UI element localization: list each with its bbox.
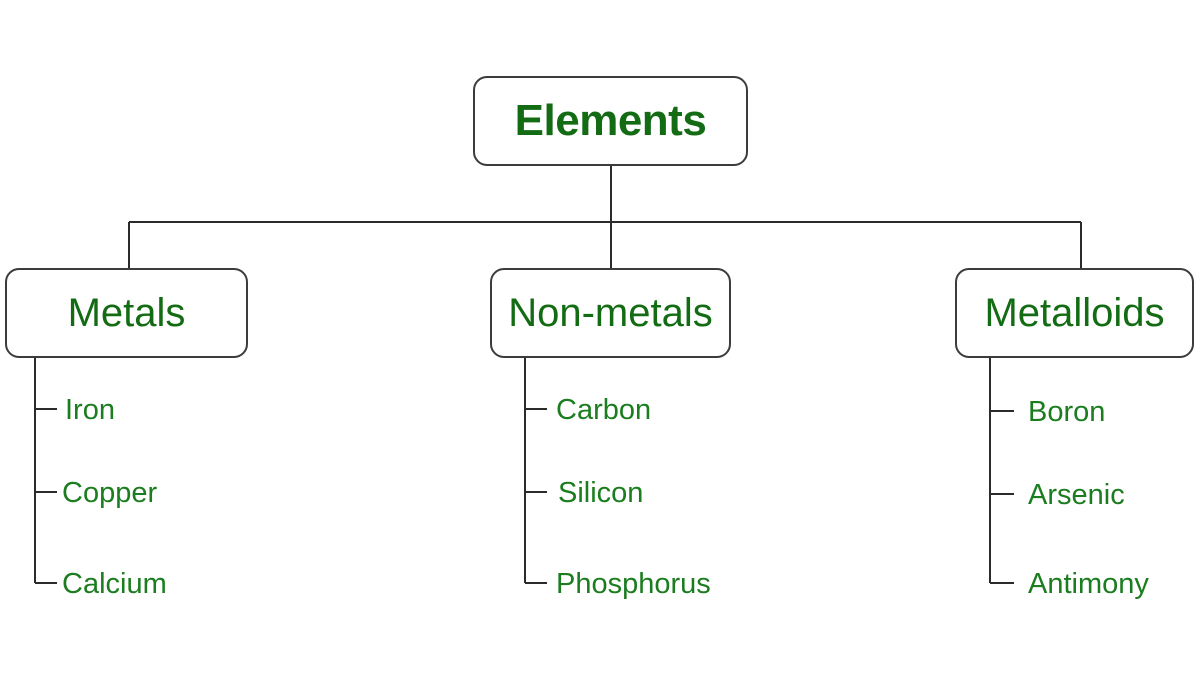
node-root-elements[interactable]: Elements	[473, 76, 748, 166]
leaf-metals-iron[interactable]: Iron	[65, 396, 115, 425]
leaf-metalloids-antimony[interactable]: Antimony	[1028, 570, 1149, 599]
leaf-metals-calcium[interactable]: Calcium	[62, 570, 167, 599]
node-category-metalloids[interactable]: Metalloids	[955, 268, 1194, 358]
node-root-label: Elements	[515, 99, 707, 143]
leaf-nonmetals-phosphorus[interactable]: Phosphorus	[556, 570, 711, 599]
node-category-metals[interactable]: Metals	[5, 268, 248, 358]
node-category-nonmetals-label: Non-metals	[508, 293, 713, 333]
leaf-metals-copper[interactable]: Copper	[62, 479, 157, 508]
node-category-metals-label: Metals	[68, 293, 186, 333]
elements-tree-diagram: Elements Metals Non-metals Metalloids Ir…	[0, 0, 1200, 675]
node-category-metalloids-label: Metalloids	[984, 293, 1164, 333]
node-category-nonmetals[interactable]: Non-metals	[490, 268, 731, 358]
leaf-metalloids-arsenic[interactable]: Arsenic	[1028, 481, 1125, 510]
leaf-metalloids-boron[interactable]: Boron	[1028, 398, 1105, 427]
leaf-nonmetals-carbon[interactable]: Carbon	[556, 396, 651, 425]
leaf-nonmetals-silicon[interactable]: Silicon	[558, 479, 643, 508]
